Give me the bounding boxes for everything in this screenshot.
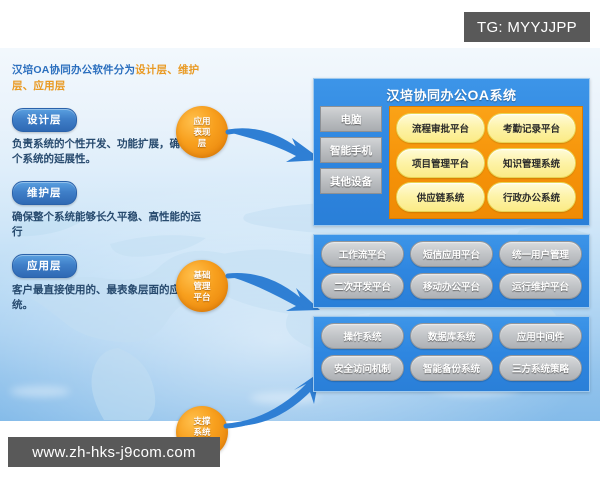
support-database-system[interactable]: 数据库系统 [410,323,493,349]
platform-unified-user-management[interactable]: 统一用户管理 [499,241,582,267]
watermark-tag-badge: TG: MYYJJPP [464,12,590,42]
layer-block-maintenance: 维护层 确保整个系统能够长久平稳、高性能的运行 [12,167,202,240]
device-item-smartphone[interactable]: 智能手机 [320,137,382,163]
circle-line: 系统 [193,427,210,438]
arrow-to-top-panel [226,110,326,168]
layer-desc-maintenance: 确保整个系统能够长久平稳、高性能的运行 [12,210,202,240]
intro-blue-text: 汉培OA协同办公软件分为 [12,64,135,76]
layer-pill-maintenance: 维护层 [12,181,77,205]
panel-title-oa: OA [468,87,490,103]
module-supply-chain[interactable]: 供应链系统 [396,182,485,212]
device-list: 电脑 智能手机 其他设备 [320,106,382,199]
layer-pill-application: 应用层 [12,254,77,278]
screenshot-root: 汉培OA协同办公软件分为设计层、维护层、应用层 设计层 负责系统的个性开发、功能… [0,0,600,480]
platform-secondary-development[interactable]: 二次开发平台 [321,273,404,299]
layer-block-application: 应用层 客户最直接使用的、最表象层面的应用系统。 [12,240,202,313]
module-knowledge-management[interactable]: 知识管理系统 [487,148,576,178]
watermark-url-badge: www.zh-hks-j9com.com [8,437,220,467]
left-explanation-column: 汉培OA协同办公软件分为设计层、维护层、应用层 设计层 负责系统的个性开发、功能… [12,62,202,313]
base-platform-items: 工作流平台 短信应用平台 统一用户管理 二次开发平台 移动办公平台 运行维护平台 [321,241,582,305]
support-third-party-policy[interactable]: 三方系统策略 [499,355,582,381]
panel-title-main: 汉培协同办公 [386,88,467,103]
module-project-management[interactable]: 项目管理平台 [396,148,485,178]
circle-line: 表现 [193,127,210,138]
support-application-middleware[interactable]: 应用中间件 [499,323,582,349]
oa-modules-block: 流程审批平台 考勤记录平台 项目管理平台 知识管理系统 供应链系统 行政办公系统 [389,106,583,219]
module-attendance-record[interactable]: 考勤记录平台 [487,113,576,143]
circle-line: 支撑 [193,416,210,427]
layer-desc-design: 负责系统的个性开发、功能扩展，确保整个系统的延展性。 [12,137,202,167]
layer-pill-design: 设计层 [12,108,77,132]
circle-line: 管理 [193,281,210,292]
panel-title-oa-system: 汉培协同办公OA系统 [314,79,589,104]
support-operating-system[interactable]: 操作系统 [321,323,404,349]
intro-sentence: 汉培OA协同办公软件分为设计层、维护层、应用层 [12,62,202,94]
circle-line: 应用 [193,116,210,127]
platform-mobile-office[interactable]: 移动办公平台 [410,273,493,299]
diagram-canvas: 汉培OA协同办公软件分为设计层、维护层、应用层 设计层 负责系统的个性开发、功能… [0,48,600,421]
support-environment-items: 操作系统 数据库系统 应用中间件 安全访问机制 智能备份系统 三方系统策略 [321,323,582,387]
arrow-to-bottom-panel [224,370,324,432]
layer-desc-application: 客户最直接使用的、最表象层面的应用系统。 [12,283,202,313]
device-item-other[interactable]: 其他设备 [320,168,382,194]
arrow-to-middle-panel [226,266,322,316]
device-item-pc[interactable]: 电脑 [320,106,382,132]
platform-workflow[interactable]: 工作流平台 [321,241,404,267]
circle-line: 平台 [193,292,210,303]
support-secure-access-mechanism[interactable]: 安全访问机制 [321,355,404,381]
support-intelligent-backup-system[interactable]: 智能备份系统 [410,355,493,381]
module-administrative-office[interactable]: 行政办公系统 [487,182,576,212]
circle-node-base-management-platform: 基础 管理 平台 [176,260,228,312]
panel-title-tail: 系统 [490,88,517,103]
layer-block-design: 设计层 负责系统的个性开发、功能扩展，确保整个系统的延展性。 [12,94,202,167]
cloud-wisp [10,386,70,397]
circle-line: 基础 [193,270,210,281]
circle-line: 层 [193,138,210,149]
platform-sms-application[interactable]: 短信应用平台 [410,241,493,267]
platform-operation-maintenance[interactable]: 运行维护平台 [499,273,582,299]
circle-node-application-presentation: 应用 表现 层 [176,106,228,158]
module-process-approval[interactable]: 流程审批平台 [396,113,485,143]
